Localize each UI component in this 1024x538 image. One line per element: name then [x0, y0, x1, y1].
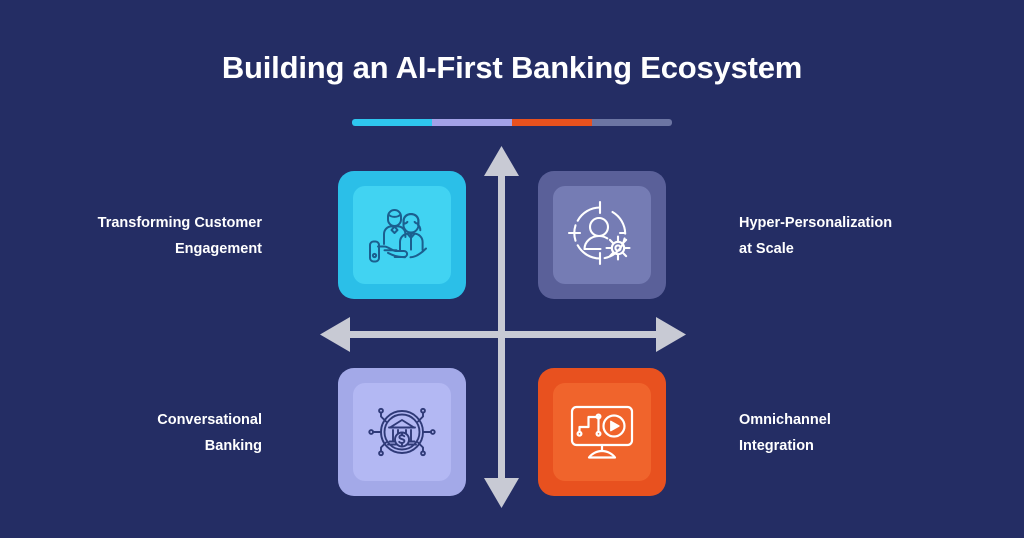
people-on-hand-icon: [364, 197, 440, 273]
divider-segment-periwinkle: [432, 119, 512, 126]
label-line: Conversational: [32, 407, 262, 433]
quadrant-tile-inner: [553, 186, 651, 284]
quadrant-label-bottom-left: Conversational Banking: [32, 407, 262, 459]
label-line: Banking: [32, 433, 262, 459]
label-line: Integration: [739, 433, 969, 459]
label-line: Hyper-Personalization: [739, 210, 969, 236]
axis-arrow-right-icon: [656, 317, 686, 352]
quadrant-tile-inner: [353, 186, 451, 284]
monitor-play-flow-icon: [564, 394, 640, 470]
page-title: Building an AI-First Banking Ecosystem: [0, 48, 1024, 88]
axis-arrow-up-icon: [484, 146, 519, 176]
quadrant-label-top-left: Transforming Customer Engagement: [32, 210, 262, 262]
title-divider-bar: [352, 119, 672, 126]
label-line: at Scale: [739, 236, 969, 262]
quadrant-tile-top-right[interactable]: [538, 171, 666, 299]
divider-segment-cyan: [352, 119, 432, 126]
person-target-gear-icon: [564, 197, 640, 273]
quadrant-label-top-right: Hyper-Personalization at Scale: [739, 210, 969, 262]
quadrant-tile-inner: [553, 383, 651, 481]
axis-arrow-down-icon: [484, 478, 519, 508]
quadrant-tile-inner: [353, 383, 451, 481]
quadrant-tile-bottom-right[interactable]: [538, 368, 666, 496]
infographic-canvas: Building an AI-First Banking Ecosystem: [0, 0, 1024, 538]
quadrant-tile-top-left[interactable]: [338, 171, 466, 299]
quadrant-tile-bottom-left[interactable]: [338, 368, 466, 496]
horizontal-axis-line: [334, 331, 672, 338]
axis-arrow-left-icon: [320, 317, 350, 352]
divider-segment-slate: [592, 119, 672, 126]
label-line: Engagement: [32, 236, 262, 262]
bank-circuit-icon: [364, 394, 440, 470]
divider-segment-orange: [512, 119, 592, 126]
quadrant-label-bottom-right: Omnichannel Integration: [739, 407, 969, 459]
vertical-axis-line: [498, 160, 505, 496]
label-line: Omnichannel: [739, 407, 969, 433]
label-line: Transforming Customer: [32, 210, 262, 236]
